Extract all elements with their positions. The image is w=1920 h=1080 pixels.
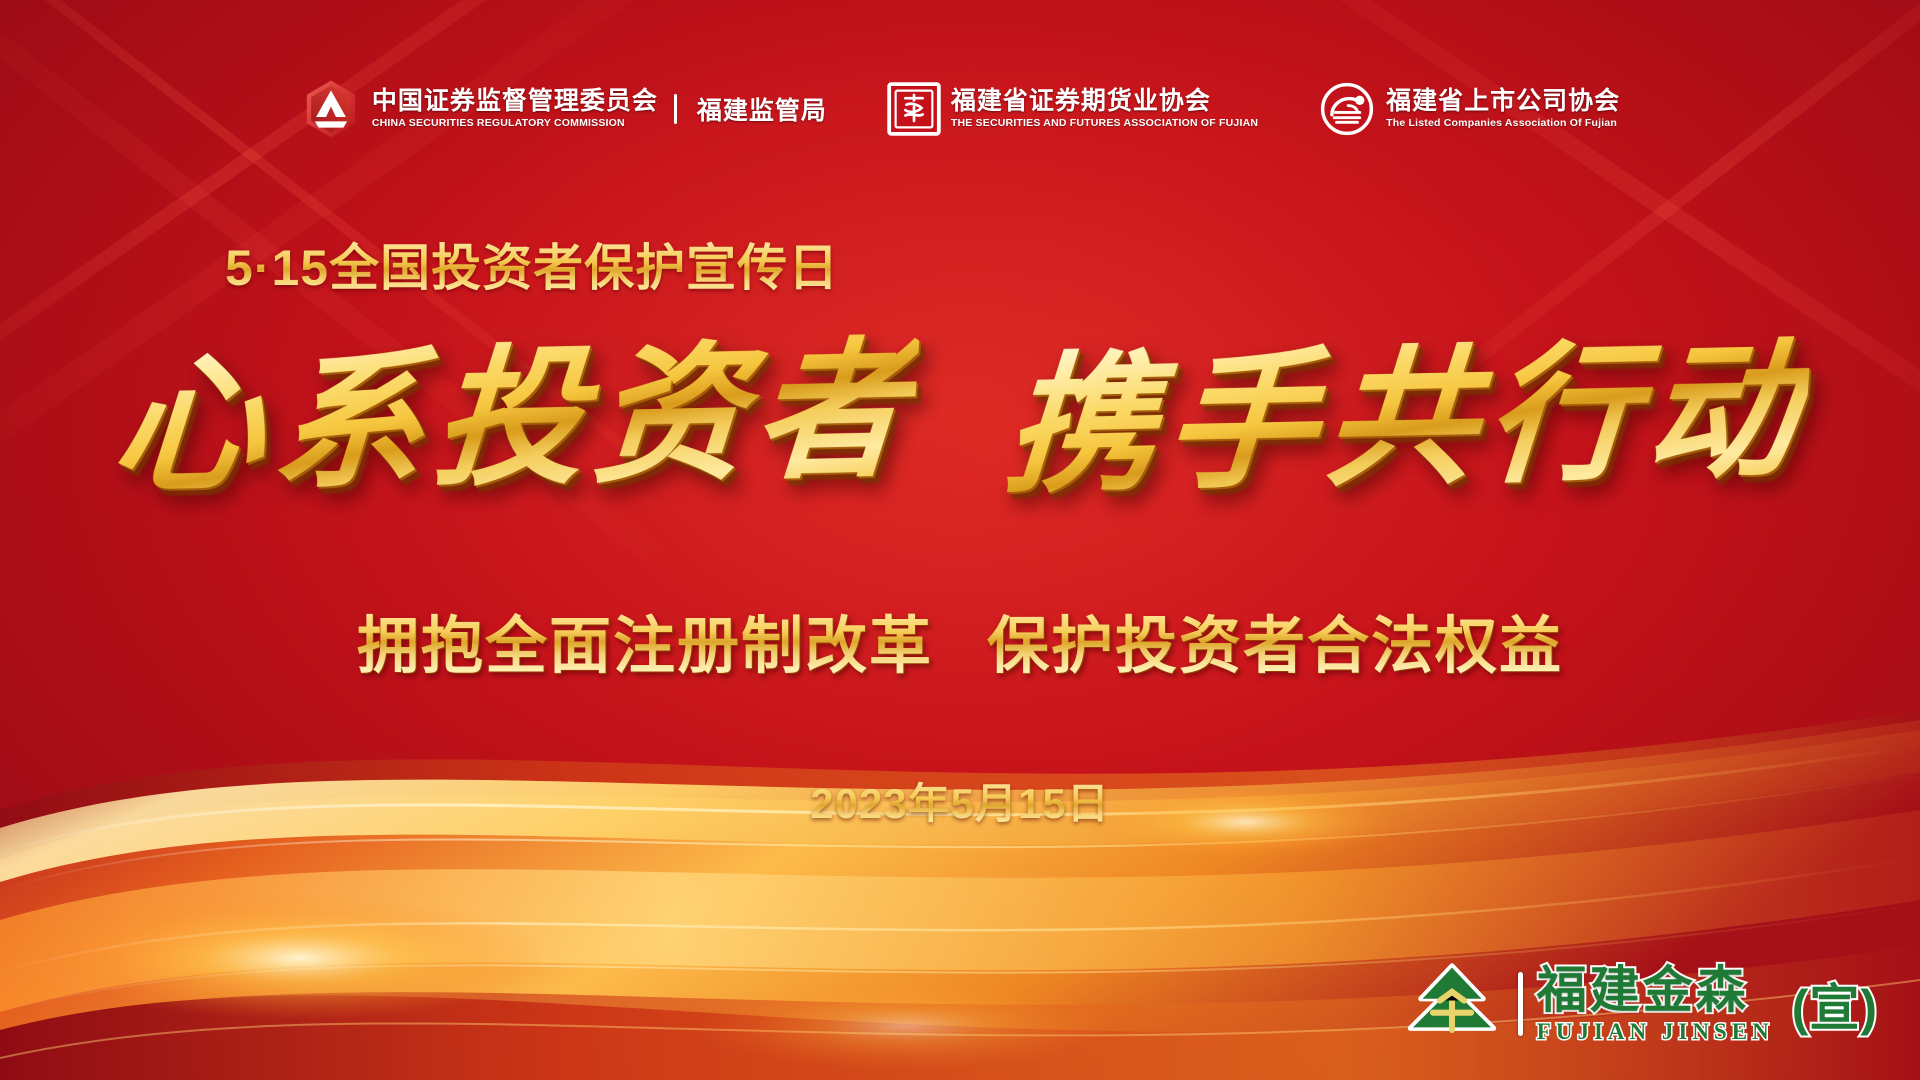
sponsor-text: 福建金森 FUJIAN JINSEN (1537, 965, 1774, 1043)
csrc-hexagon-mark (300, 78, 362, 140)
logo-csrc: 中国证券监督管理委员会 CHINA SECURITIES REGULATORY … (300, 78, 827, 140)
sponsor-logo-fujian-jinsen: 福建金森 FUJIAN JINSEN (宣) (1400, 960, 1878, 1048)
logo-fujian-securities-futures-en: THE SECURITIES AND FUTURES ASSOCIATION O… (951, 118, 1258, 129)
slogan-part-1: 拥抱全面注册制改革 (357, 595, 933, 685)
event-date: 2023年5月15日 (0, 770, 1920, 831)
logo-fujian-listed-companies-cn: 福建省上市公司协会 (1386, 89, 1620, 114)
headline: 心系投资者 携手共行动 (0, 330, 1920, 507)
logo-fujian-listed-companies-text: 福建省上市公司协会 The Listed Companies Associati… (1386, 89, 1620, 129)
sponsor-name-en: FUJIAN JINSEN (1537, 1020, 1774, 1043)
slogan: 拥抱全面注册制改革 保护投资者合法权益 (0, 595, 1920, 685)
logo-fujian-securities-futures-text: 福建省证券期货业协会 THE SECURITIES AND FUTURES AS… (951, 89, 1258, 129)
fujian-listed-companies-circle-mark (1318, 80, 1376, 138)
promotional-banner: 中国证券监督管理委员会 CHINA SECURITIES REGULATORY … (0, 0, 1920, 1080)
logo-csrc-cn: 中国证券监督管理委员会 (372, 89, 658, 114)
jinsen-pine-tree-mark (1400, 960, 1504, 1048)
organizer-logo-bar: 中国证券监督管理委员会 CHINA SECURITIES REGULATORY … (0, 78, 1920, 140)
fujian-securities-futures-seal-mark (887, 82, 941, 136)
slogan-part-2: 保护投资者合法权益 (987, 595, 1563, 685)
logo-csrc-bureau: 福建监管局 (697, 91, 827, 127)
campaign-subtitle: 5·15全国投资者保护宣传日 (225, 228, 839, 300)
sponsor-divider (1518, 972, 1523, 1036)
logo-fujian-securities-futures-cn: 福建省证券期货业协会 (951, 89, 1258, 114)
headline-part-2: 携手共行动 (999, 322, 1812, 516)
logo-fujian-listed-companies: 福建省上市公司协会 The Listed Companies Associati… (1318, 80, 1620, 138)
sponsor-name-cn: 福建金森 (1537, 965, 1774, 1015)
logo-fujian-listed-companies-en: The Listed Companies Association Of Fuji… (1386, 118, 1620, 129)
logo-fujian-securities-futures: 福建省证券期货业协会 THE SECURITIES AND FUTURES AS… (887, 82, 1258, 136)
logo-divider (674, 94, 677, 124)
logo-csrc-en: CHINA SECURITIES REGULATORY COMMISSION (372, 118, 658, 129)
headline-part-1: 心系投资者 (107, 322, 920, 516)
sponsor-suffix: (宣) (1792, 968, 1878, 1040)
logo-csrc-text: 中国证券监督管理委员会 CHINA SECURITIES REGULATORY … (372, 89, 658, 129)
